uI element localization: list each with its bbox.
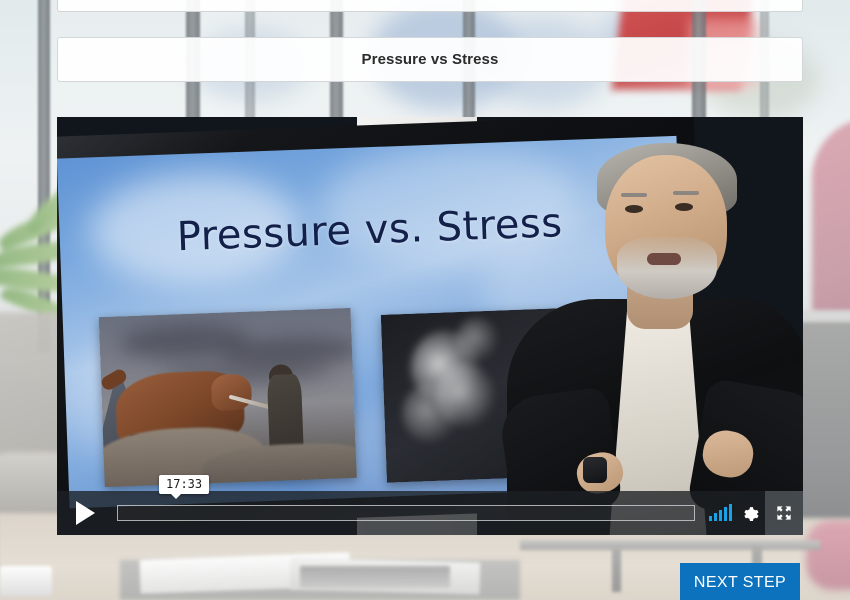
slide-image-tiger-caveman <box>99 308 357 487</box>
presenter <box>497 131 803 535</box>
volume-bars-icon <box>709 505 732 521</box>
next-step-button[interactable]: NEXT STEP <box>680 563 800 600</box>
video-controls-bar: 17:33 <box>57 491 803 535</box>
seek-bar[interactable] <box>117 505 695 521</box>
progress-area: 17:33 <box>113 491 705 535</box>
fullscreen-button[interactable] <box>765 491 803 535</box>
volume-button[interactable] <box>705 491 735 535</box>
fullscreen-icon <box>776 505 792 521</box>
video-frame: Pressure vs. Stress <box>57 117 803 535</box>
app-root: Pressure vs Stress Pressure vs. Stress <box>0 0 850 600</box>
page-title-bar: Pressure vs Stress <box>57 37 803 82</box>
play-icon <box>76 501 95 525</box>
page-title: Pressure vs Stress <box>362 51 499 68</box>
settings-button[interactable] <box>735 491 765 535</box>
video-player[interactable]: Pressure vs. Stress <box>57 117 803 535</box>
gear-icon <box>741 504 760 523</box>
play-button[interactable] <box>57 491 113 535</box>
presenter-clicker <box>583 457 607 483</box>
top-card-strip <box>57 0 803 12</box>
time-tooltip: 17:33 <box>159 475 209 494</box>
